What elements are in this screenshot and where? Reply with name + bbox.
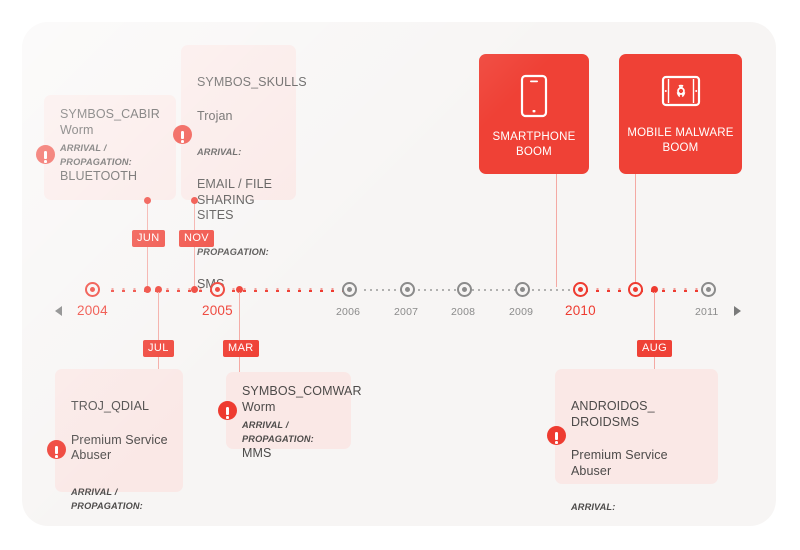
card-label-arrival: ARRIVAL: bbox=[197, 145, 282, 159]
boom-label: SMARTPHONE BOOM bbox=[479, 130, 589, 160]
card-name: SYMBOS_CABIR bbox=[60, 107, 162, 123]
axis-ring-2009[interactable] bbox=[515, 282, 530, 297]
chip-label: JUN bbox=[137, 232, 160, 244]
card-name: SYMBOS_SKULLS bbox=[197, 75, 282, 91]
axis-year-2005: 2005 bbox=[202, 303, 233, 318]
connector-aug-axis bbox=[654, 292, 655, 340]
card-symbos-cabir[interactable]: SYMBOS_CABIR Worm ARRIVAL / PROPAGATION:… bbox=[44, 95, 176, 200]
card-name: SYMBOS_COMWAR bbox=[242, 384, 337, 400]
axis-dots-red-2 bbox=[250, 288, 355, 292]
card-androidos-droidsms[interactable]: ANDROIDOS_ DROIDSMS Premium Service Abus… bbox=[555, 369, 718, 484]
card-value-arrival: EMAIL / FILE SHARING SITES bbox=[197, 177, 282, 224]
connector-dot-skulls bbox=[191, 197, 198, 204]
axis-year-2007: 2007 bbox=[394, 306, 418, 318]
chip-label: NOV bbox=[184, 232, 209, 244]
triangle-right-icon[interactable] bbox=[734, 306, 741, 316]
alert-exclamation-icon-comwar bbox=[218, 401, 237, 420]
chip-jul[interactable]: JUL bbox=[143, 340, 174, 357]
triangle-left-icon[interactable] bbox=[55, 306, 62, 316]
connector-mar-axis bbox=[239, 292, 240, 340]
chip-label: JUL bbox=[148, 342, 169, 354]
chip-jun[interactable]: JUN bbox=[132, 230, 165, 247]
chip-mar[interactable]: MAR bbox=[223, 340, 259, 357]
boom-label: MOBILE MALWARE BOOM bbox=[619, 126, 742, 156]
axis-year-2009: 2009 bbox=[509, 306, 533, 318]
axis-ring-2007[interactable] bbox=[400, 282, 415, 297]
axis-year-2004: 2004 bbox=[77, 303, 108, 318]
tablet-biohazard-icon bbox=[656, 74, 706, 118]
axis-ring-2005[interactable] bbox=[210, 282, 225, 297]
card-type: Premium Service Abuser bbox=[71, 433, 169, 464]
card-value-arrival: MMS bbox=[242, 446, 337, 462]
axis-ring-2011[interactable] bbox=[701, 282, 716, 297]
card-troj-qdial[interactable]: TROJ_QDIAL Premium Service Abuser ARRIVA… bbox=[55, 369, 183, 492]
card-type: Worm bbox=[242, 400, 337, 416]
card-type: Premium Service Abuser bbox=[571, 448, 704, 479]
card-label-arrival: ARRIVAL / PROPAGATION: bbox=[71, 485, 169, 513]
connector-skulls bbox=[194, 200, 195, 230]
alert-exclamation-icon-skulls bbox=[173, 125, 192, 144]
card-type: Worm bbox=[60, 123, 162, 139]
axis-year-2010: 2010 bbox=[565, 303, 596, 318]
axis-event-dot-nov bbox=[191, 286, 198, 293]
axis-ring-2004[interactable] bbox=[85, 282, 100, 297]
alert-exclamation-icon-droidsms bbox=[547, 426, 566, 445]
axis-ring-2010[interactable] bbox=[573, 282, 588, 297]
card-label-arrival: ARRIVAL: bbox=[571, 500, 704, 514]
connector-jul-axis bbox=[158, 292, 159, 340]
boom-mobile-malware[interactable]: MOBILE MALWARE BOOM bbox=[619, 54, 742, 174]
axis-dots-red-1 bbox=[107, 288, 252, 292]
card-value-arrival: BLUETOOTH bbox=[60, 169, 162, 185]
boom-smartphone[interactable]: SMARTPHONE BOOM bbox=[479, 54, 589, 174]
card-label-arrival: ARRIVAL / PROPAGATION: bbox=[60, 141, 162, 169]
card-symbos-comwar[interactable]: SYMBOS_COMWAR Worm ARRIVAL / PROPAGATION… bbox=[226, 372, 351, 449]
chip-label: MAR bbox=[228, 342, 254, 354]
axis-year-2008: 2008 bbox=[451, 306, 475, 318]
card-label-arrival: ARRIVAL / PROPAGATION: bbox=[242, 418, 337, 446]
axis-ring-2006[interactable] bbox=[342, 282, 357, 297]
alert-exclamation-icon-cabir bbox=[36, 145, 55, 164]
chip-label: AUG bbox=[642, 342, 667, 354]
card-name: TROJ_QDIAL bbox=[71, 399, 169, 415]
connector-dot-cabir bbox=[144, 197, 151, 204]
timeline-axis[interactable]: 2004 2005 2006 2007 2008 2009 2010 2011 bbox=[22, 270, 776, 330]
axis-ring-mid-2010[interactable] bbox=[628, 282, 643, 297]
axis-ring-2008[interactable] bbox=[457, 282, 472, 297]
card-name: ANDROIDOS_ DROIDSMS bbox=[571, 399, 704, 430]
chip-aug[interactable]: AUG bbox=[637, 340, 672, 357]
card-symbos-skulls[interactable]: SYMBOS_SKULLS Trojan ARRIVAL: EMAIL / FI… bbox=[181, 45, 296, 200]
axis-event-dot-jun bbox=[144, 286, 151, 293]
axis-year-2011: 2011 bbox=[695, 306, 718, 318]
chip-nov[interactable]: NOV bbox=[179, 230, 214, 247]
axis-year-2006: 2006 bbox=[336, 306, 360, 318]
card-type: Trojan bbox=[197, 109, 282, 125]
connector-cabir bbox=[147, 200, 148, 230]
smartphone-icon bbox=[517, 74, 551, 122]
alert-exclamation-icon-qdial bbox=[47, 440, 66, 459]
timeline-panel: SYMBOS_CABIR Worm ARRIVAL / PROPAGATION:… bbox=[22, 22, 776, 526]
